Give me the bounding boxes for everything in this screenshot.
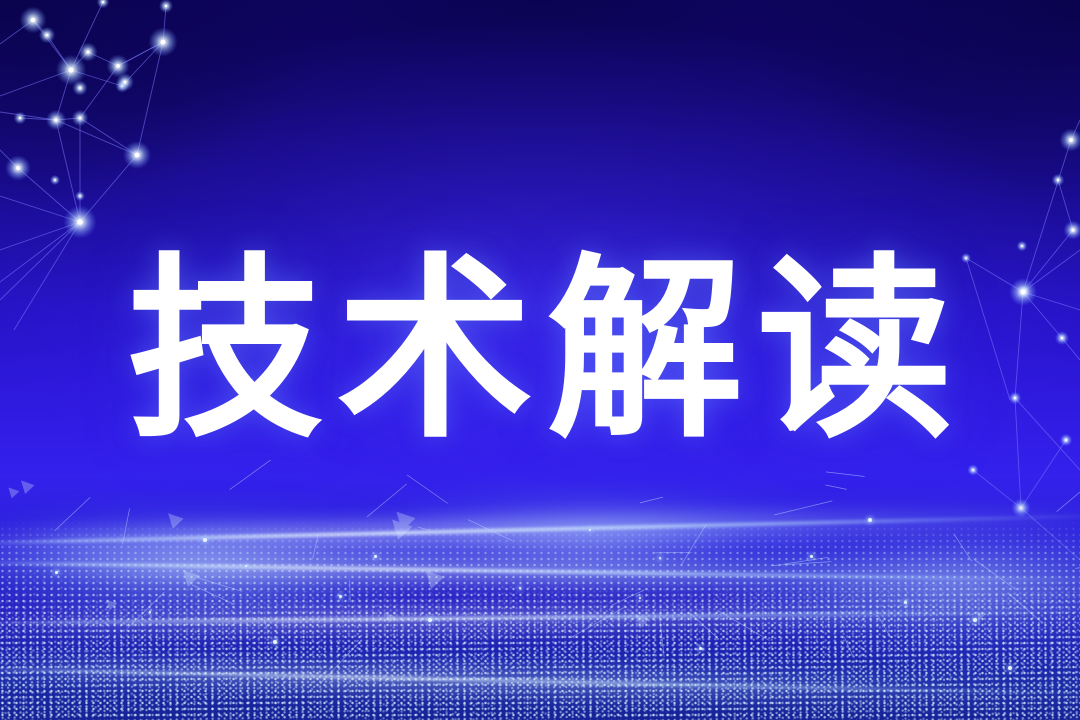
wave-speck (55, 571, 58, 574)
wave-speck (810, 555, 813, 558)
wave-speck (273, 640, 277, 644)
wave-speck (699, 647, 702, 650)
wave-speck (973, 618, 977, 622)
headline-container: 技术解读 (0, 236, 1080, 466)
wave-speck (149, 611, 151, 613)
wave-speck (203, 538, 207, 542)
wave-speck (639, 597, 641, 599)
wave-speck (904, 601, 907, 604)
wave-speck (868, 518, 872, 522)
wave-speck (1008, 666, 1012, 670)
wave-speck (245, 565, 247, 567)
banner-root: 技术解读 (0, 0, 1080, 720)
wave-speck (519, 587, 521, 589)
particle-wave-field (0, 460, 1080, 720)
page-title: 技术解读 (113, 253, 967, 449)
wave-speck (339, 595, 342, 598)
wave-speck (589, 529, 591, 531)
wave-speck (659, 557, 661, 559)
wave-speck (428, 618, 432, 622)
particle-grid-front (0, 520, 1080, 720)
wave-speck (374, 555, 377, 558)
